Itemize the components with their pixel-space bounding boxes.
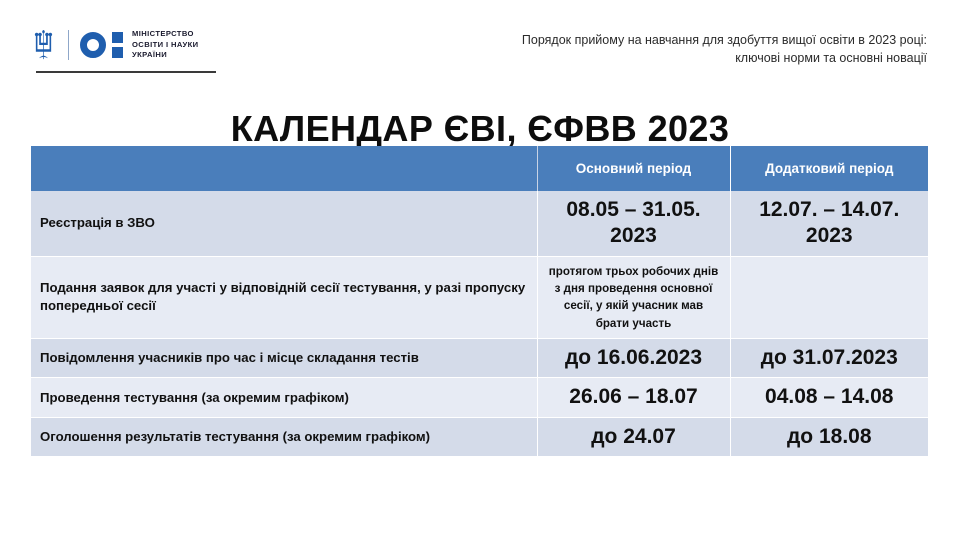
deck-subtitle: Порядок прийому на навчання для здобуття… <box>407 32 927 68</box>
table-row: Повідомлення учасників про час і місце с… <box>31 339 928 378</box>
column-header-extra-period: Додатковий період <box>730 146 928 191</box>
table-body: Реєстрація в ЗВО 08.05 – 31.05. 2023 12.… <box>31 191 928 456</box>
ministry-name-line-1: МІНІСТЕРСТВО <box>132 29 199 40</box>
row-label: Повідомлення учасників про час і місце с… <box>31 339 537 378</box>
row-main-period: 08.05 – 31.05. 2023 <box>537 191 730 256</box>
row-label: Реєстрація в ЗВО <box>31 191 537 256</box>
logo-squares-icon <box>112 32 123 58</box>
ukraine-trident-icon <box>30 28 56 62</box>
table-row: Подання заявок для участі у відповідній … <box>31 256 928 339</box>
row-extra-period: 04.08 – 14.08 <box>730 378 928 417</box>
row-main-period: до 24.07 <box>537 417 730 456</box>
row-main-period: до 16.06.2023 <box>537 339 730 378</box>
brand-divider <box>68 30 69 60</box>
row-extra-period: до 18.08 <box>730 417 928 456</box>
ministry-name-line-3: УКРАЇНИ <box>132 50 199 61</box>
table-row: Реєстрація в ЗВО 08.05 – 31.05. 2023 12.… <box>31 191 928 256</box>
column-header-main-period: Основний період <box>537 146 730 191</box>
brand-underline-rule <box>36 71 216 73</box>
row-label: Подання заявок для участі у відповідній … <box>31 256 537 339</box>
row-label: Оголошення результатів тестування (за ок… <box>31 417 537 456</box>
page-title: КАЛЕНДАР ЄВІ, ЄФВВ 2023 <box>0 108 960 150</box>
row-label: Проведення тестування (за окремим графік… <box>31 378 537 417</box>
table-header: Основний період Додатковий період <box>31 146 928 191</box>
logo-ring-icon <box>80 32 106 58</box>
ministry-name-line-2: ОСВІТИ І НАУКИ <box>132 40 199 51</box>
ministry-branding: МІНІСТЕРСТВО ОСВІТИ І НАУКИ УКРАЇНИ <box>30 22 199 68</box>
calendar-table: Основний період Додатковий період Реєстр… <box>31 146 928 457</box>
ministry-name: МІНІСТЕРСТВО ОСВІТИ І НАУКИ УКРАЇНИ <box>132 29 199 61</box>
row-extra-period <box>730 256 928 339</box>
table-row: Оголошення результатів тестування (за ок… <box>31 417 928 456</box>
deck-subtitle-line-2: ключові норми та основні новації <box>407 50 927 68</box>
deck-subtitle-line-1: Порядок прийому на навчання для здобуття… <box>407 32 927 50</box>
logo-square-top <box>112 32 123 43</box>
row-extra-period: 12.07. – 14.07. 2023 <box>730 191 928 256</box>
logo-square-bottom <box>112 47 123 58</box>
mon-ring-squares-icon <box>80 32 123 58</box>
table-header-row: Основний період Додатковий період <box>31 146 928 191</box>
table-row: Проведення тестування (за окремим графік… <box>31 378 928 417</box>
row-extra-period: до 31.07.2023 <box>730 339 928 378</box>
row-main-period: протягом трьох робочих днів з дня провед… <box>537 256 730 339</box>
column-header-stage <box>31 146 537 191</box>
row-main-period: 26.06 – 18.07 <box>537 378 730 417</box>
